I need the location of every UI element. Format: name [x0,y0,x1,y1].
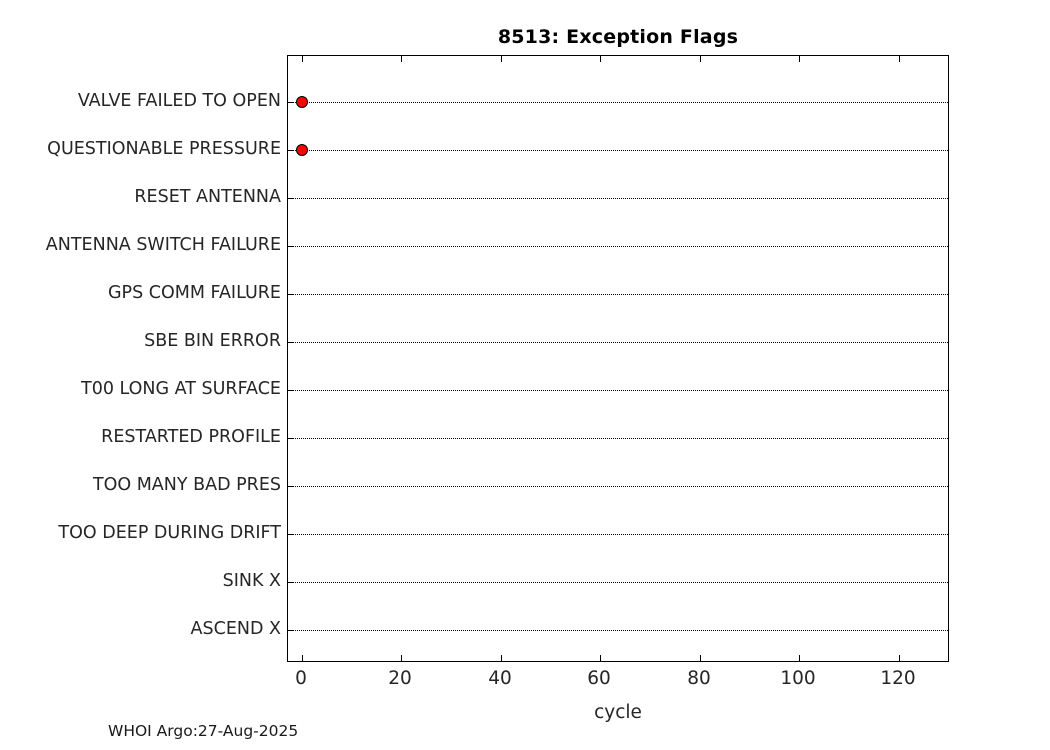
x-tick-label: 0 [295,668,307,689]
y-tick-mark [288,246,293,247]
y-tick-mark [288,582,293,583]
gridline [288,534,948,535]
gridline [288,486,948,487]
y-tick-label: TOO DEEP DURING DRIFT [58,523,281,543]
page-title: 8513: Exception Flags [287,26,949,48]
y-tick-mark [288,150,293,151]
y-tick-label: T00 LONG AT SURFACE [81,379,281,399]
x-tick-mark-top [700,56,701,62]
x-tick-mark-top [799,56,800,62]
y-tick-label: SINK X [223,571,281,591]
x-tick-label: 60 [587,668,611,689]
x-tick-mark-top [501,56,502,62]
x-tick-label: 120 [880,668,915,689]
chart-figure: 8513: Exception Flags VALVE FAILED TO OP… [0,0,1050,750]
y-tick-mark [288,486,293,487]
y-tick-mark [288,390,293,391]
x-tick-mark [700,655,701,661]
y-tick-mark [288,342,293,343]
y-tick-label: RESTARTED PROFILE [101,427,281,447]
x-tick-label: 100 [780,668,815,689]
x-tick-mark [799,655,800,661]
y-tick-mark [288,534,293,535]
y-tick-label: TOO MANY BAD PRES [93,475,281,495]
x-tick-mark-top [401,56,402,62]
gridline [288,630,948,631]
gridline [288,198,948,199]
x-tick-label: 80 [687,668,711,689]
y-tick-mark [288,294,293,295]
y-tick-label: VALVE FAILED TO OPEN [78,91,281,111]
x-tick-mark [302,655,303,661]
y-tick-mark [288,438,293,439]
x-tick-mark-top [600,56,601,62]
gridline [288,294,948,295]
y-tick-label: RESET ANTENNA [134,187,281,207]
gridline [288,246,948,247]
gridline [288,582,948,583]
y-tick-label: GPS COMM FAILURE [108,283,281,303]
x-tick-mark-top [302,56,303,62]
y-tick-label: ANTENNA SWITCH FAILURE [46,235,281,255]
y-tick-label: ASCEND X [191,619,281,639]
y-tick-mark [288,102,293,103]
gridline [288,150,948,151]
x-tick-mark [401,655,402,661]
y-tick-label: SBE BIN ERROR [144,331,281,351]
y-tick-mark [288,198,293,199]
y-tick-mark [288,630,293,631]
x-tick-mark [501,655,502,661]
y-axis-tick-labels: VALVE FAILED TO OPEN QUESTIONABLE PRESSU… [0,55,281,662]
x-tick-mark [899,655,900,661]
x-tick-mark-top [899,56,900,62]
x-axis-title: cycle [287,702,949,723]
data-point-marker[interactable] [296,96,308,108]
gridline [288,438,948,439]
gridline [288,102,948,103]
data-point-marker[interactable] [296,144,308,156]
x-tick-mark [600,655,601,661]
gridline [288,390,948,391]
y-tick-label: QUESTIONABLE PRESSURE [47,139,281,159]
plot-area [287,55,949,662]
x-axis-tick-labels: 0 20 40 60 80 100 120 [287,668,949,694]
footer-credit: WHOI Argo:27-Aug-2025 [108,722,298,740]
gridline [288,342,948,343]
x-tick-label: 40 [488,668,512,689]
x-tick-label: 20 [388,668,412,689]
